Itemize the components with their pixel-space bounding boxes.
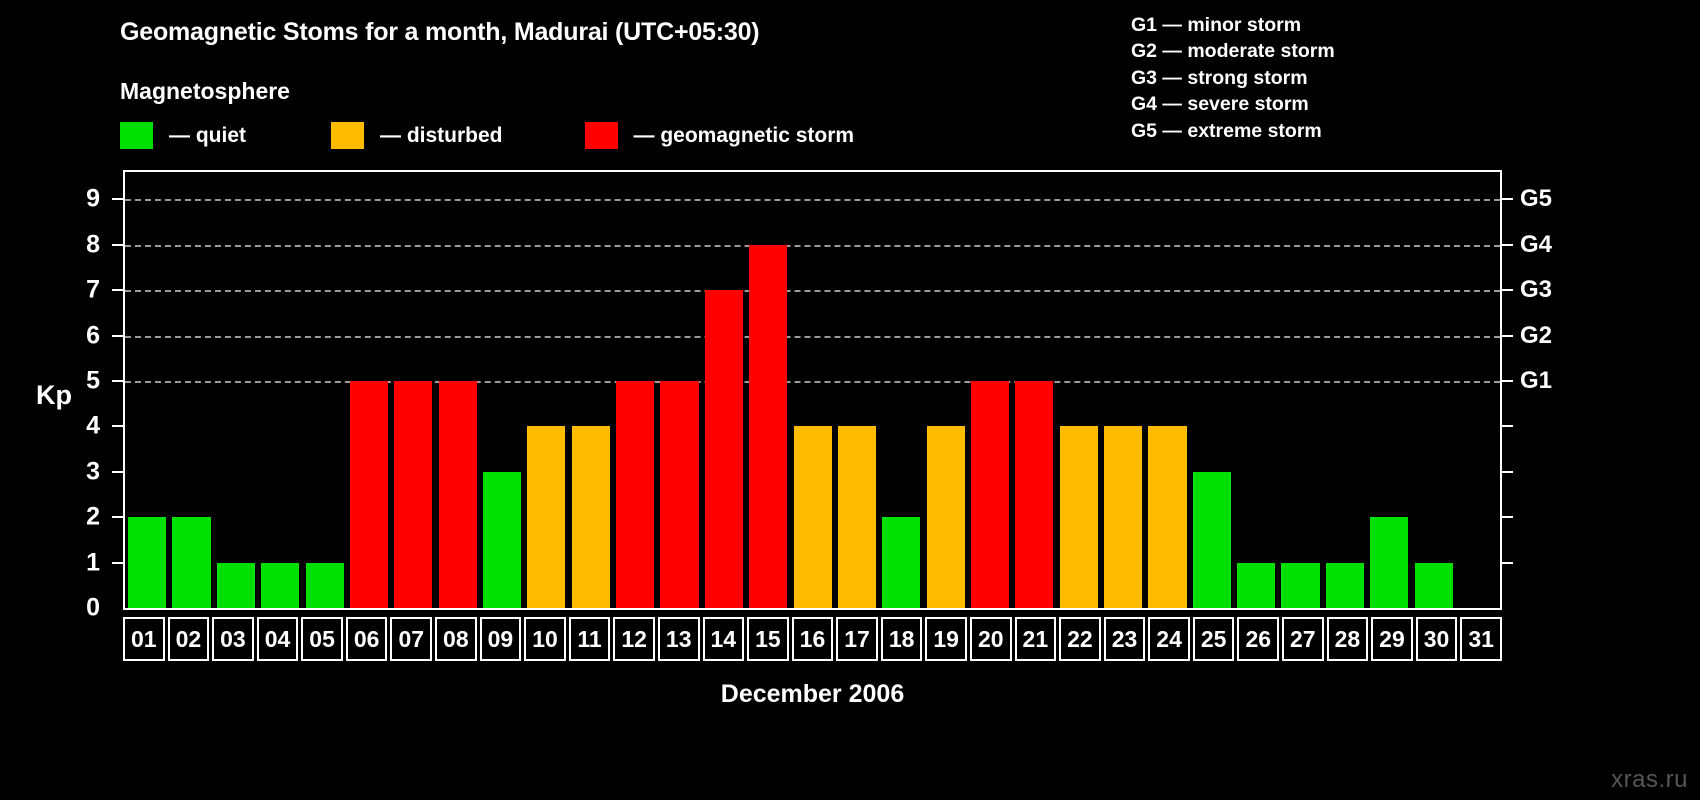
bar-slot-day-12[interactable] xyxy=(613,172,657,608)
g-minor-tick-kp-2 xyxy=(1502,516,1513,518)
bar-slot-day-28[interactable] xyxy=(1323,172,1367,608)
bar-day-06 xyxy=(350,381,388,608)
bar-slot-day-08[interactable] xyxy=(436,172,480,608)
legend-geomagnetic-storm-swatch xyxy=(585,122,618,149)
bar-day-15 xyxy=(749,245,787,608)
legend-quiet-label: — quiet xyxy=(169,124,246,148)
day-label-24[interactable]: 24 xyxy=(1148,617,1190,661)
bar-slot-day-15[interactable] xyxy=(746,172,790,608)
day-label-13[interactable]: 13 xyxy=(658,617,700,661)
x-axis-title: December 2006 xyxy=(0,680,1625,709)
bar-slot-day-24[interactable] xyxy=(1145,172,1189,608)
g-tick-mark-G4 xyxy=(1502,244,1513,246)
bar-day-02 xyxy=(172,517,210,608)
bar-day-30 xyxy=(1415,563,1453,608)
gscale-legend: G1 — minor stormG2 — moderate stormG3 — … xyxy=(1131,12,1335,144)
bar-slot-day-19[interactable] xyxy=(923,172,967,608)
bar-day-09 xyxy=(483,472,521,608)
legend-quiet-swatch xyxy=(120,122,153,149)
gscale-row-g1: G1 — minor storm xyxy=(1131,12,1335,38)
bar-slot-day-20[interactable] xyxy=(968,172,1012,608)
bar-day-18 xyxy=(882,517,920,608)
bar-slot-day-13[interactable] xyxy=(657,172,701,608)
bar-slot-day-27[interactable] xyxy=(1278,172,1322,608)
legend-geomagnetic-storm[interactable]: — geomagnetic storm xyxy=(585,122,855,149)
day-label-09[interactable]: 09 xyxy=(480,617,522,661)
bar-day-16 xyxy=(794,426,832,608)
day-label-15[interactable]: 15 xyxy=(747,617,789,661)
y-tick-label-6: 6 xyxy=(0,321,100,350)
page-title: Geomagnetic Stoms for a month, Madurai (… xyxy=(120,18,759,47)
bar-slot-day-14[interactable] xyxy=(702,172,746,608)
y-tick-mark-1 xyxy=(112,562,123,564)
y-tick-mark-3 xyxy=(112,471,123,473)
bar-day-27 xyxy=(1281,563,1319,608)
day-label-23[interactable]: 23 xyxy=(1104,617,1146,661)
g-tick-mark-G1 xyxy=(1502,380,1513,382)
day-label-18[interactable]: 18 xyxy=(881,617,923,661)
bar-slot-day-23[interactable] xyxy=(1101,172,1145,608)
g-tick-mark-G5 xyxy=(1502,198,1513,200)
bar-slot-day-31[interactable] xyxy=(1456,172,1500,608)
g-minor-tick-kp-1 xyxy=(1502,562,1513,564)
legend-disturbed-swatch xyxy=(331,122,364,149)
bar-day-25 xyxy=(1193,472,1231,608)
bar-slot-day-25[interactable] xyxy=(1190,172,1234,608)
day-label-16[interactable]: 16 xyxy=(792,617,834,661)
day-label-07[interactable]: 07 xyxy=(390,617,432,661)
gscale-row-g3: G3 — strong storm xyxy=(1131,65,1335,91)
y-tick-label-1: 1 xyxy=(0,548,100,577)
day-label-11[interactable]: 11 xyxy=(569,617,611,661)
bar-day-13 xyxy=(660,381,698,608)
bar-day-04 xyxy=(261,563,299,608)
bar-slot-day-29[interactable] xyxy=(1367,172,1411,608)
bar-slot-day-11[interactable] xyxy=(569,172,613,608)
bar-slot-day-03[interactable] xyxy=(214,172,258,608)
y-axis-title: Kp xyxy=(36,380,72,411)
y-tick-mark-2 xyxy=(112,516,123,518)
gscale-row-g5: G5 — extreme storm xyxy=(1131,118,1335,144)
legend-disturbed[interactable]: — disturbed xyxy=(331,122,503,149)
g-tick-label-G1: G1 xyxy=(1520,367,1552,395)
bar-slot-day-16[interactable] xyxy=(790,172,834,608)
gscale-row-g2: G2 — moderate storm xyxy=(1131,38,1335,64)
bar-slot-day-10[interactable] xyxy=(524,172,568,608)
y-tick-mark-8 xyxy=(112,244,123,246)
g-tick-label-G5: G5 xyxy=(1520,185,1552,213)
day-label-02[interactable]: 02 xyxy=(168,617,210,661)
day-label-29[interactable]: 29 xyxy=(1371,617,1413,661)
g-tick-label-G2: G2 xyxy=(1520,322,1552,350)
bar-slot-day-09[interactable] xyxy=(480,172,524,608)
g-minor-tick-kp-3 xyxy=(1502,471,1513,473)
day-label-05[interactable]: 05 xyxy=(301,617,343,661)
day-label-21[interactable]: 21 xyxy=(1015,617,1057,661)
y-tick-label-4: 4 xyxy=(0,412,100,441)
day-label-10[interactable]: 10 xyxy=(524,617,566,661)
g-tick-mark-G2 xyxy=(1502,335,1513,337)
bar-day-21 xyxy=(1015,381,1053,608)
day-label-26[interactable]: 26 xyxy=(1237,617,1279,661)
day-label-20[interactable]: 20 xyxy=(970,617,1012,661)
bar-slot-day-18[interactable] xyxy=(879,172,923,608)
bar-day-03 xyxy=(217,563,255,608)
bar-slot-day-26[interactable] xyxy=(1234,172,1278,608)
day-label-01[interactable]: 01 xyxy=(123,617,165,661)
bar-day-08 xyxy=(439,381,477,608)
bar-slot-day-05[interactable] xyxy=(302,172,346,608)
magnetosphere-heading: Magnetosphere xyxy=(120,78,290,105)
watermark: xras.ru xyxy=(1611,766,1688,794)
bar-day-12 xyxy=(616,381,654,608)
y-tick-label-3: 3 xyxy=(0,457,100,486)
plot-area xyxy=(123,170,1502,610)
y-tick-label-8: 8 xyxy=(0,230,100,259)
x-axis-day-labels: 0102030405060708091011121314151617181920… xyxy=(123,617,1502,661)
y-tick-label-0: 0 xyxy=(0,594,100,623)
y-tick-mark-6 xyxy=(112,335,123,337)
bar-slot-day-22[interactable] xyxy=(1057,172,1101,608)
day-label-12[interactable]: 12 xyxy=(613,617,655,661)
day-label-06[interactable]: 06 xyxy=(346,617,388,661)
day-label-04[interactable]: 04 xyxy=(257,617,299,661)
day-label-14[interactable]: 14 xyxy=(703,617,745,661)
day-label-17[interactable]: 17 xyxy=(836,617,878,661)
bar-day-26 xyxy=(1237,563,1275,608)
day-label-31[interactable]: 31 xyxy=(1460,617,1502,661)
y-tick-mark-9 xyxy=(112,198,123,200)
bar-slot-day-06[interactable] xyxy=(347,172,391,608)
y-tick-label-7: 7 xyxy=(0,276,100,305)
bar-slot-day-21[interactable] xyxy=(1012,172,1056,608)
bar-day-28 xyxy=(1326,563,1364,608)
bar-day-29 xyxy=(1370,517,1408,608)
bar-day-19 xyxy=(927,426,965,608)
legend-geomagnetic-storm-label: — geomagnetic storm xyxy=(634,124,855,148)
y-tick-label-2: 2 xyxy=(0,503,100,532)
day-label-25[interactable]: 25 xyxy=(1193,617,1235,661)
bar-day-20 xyxy=(971,381,1009,608)
bars-layer xyxy=(125,172,1500,608)
magnetosphere-legend: — quiet— disturbed— geomagnetic storm xyxy=(120,122,854,149)
day-label-30[interactable]: 30 xyxy=(1416,617,1458,661)
g-minor-tick-kp-4 xyxy=(1502,425,1513,427)
g-tick-label-G3: G3 xyxy=(1520,276,1552,304)
day-label-27[interactable]: 27 xyxy=(1282,617,1324,661)
bar-day-10 xyxy=(527,426,565,608)
bar-day-22 xyxy=(1060,426,1098,608)
legend-disturbed-label: — disturbed xyxy=(380,124,503,148)
bar-slot-day-07[interactable] xyxy=(391,172,435,608)
day-label-28[interactable]: 28 xyxy=(1327,617,1369,661)
bar-day-17 xyxy=(838,426,876,608)
y-tick-label-9: 9 xyxy=(0,185,100,214)
gscale-row-g4: G4 — severe storm xyxy=(1131,91,1335,117)
bar-day-01 xyxy=(128,517,166,608)
bar-day-24 xyxy=(1148,426,1186,608)
day-label-22[interactable]: 22 xyxy=(1059,617,1101,661)
y-tick-mark-7 xyxy=(112,289,123,291)
day-label-08[interactable]: 08 xyxy=(435,617,477,661)
bar-slot-day-04[interactable] xyxy=(258,172,302,608)
bar-day-07 xyxy=(394,381,432,608)
legend-quiet[interactable]: — quiet xyxy=(120,122,246,149)
bar-day-11 xyxy=(572,426,610,608)
y-tick-mark-5 xyxy=(112,380,123,382)
bar-slot-day-02[interactable] xyxy=(169,172,213,608)
day-label-03[interactable]: 03 xyxy=(212,617,254,661)
bar-day-05 xyxy=(306,563,344,608)
g-tick-label-G4: G4 xyxy=(1520,231,1552,259)
g-tick-mark-G3 xyxy=(1502,289,1513,291)
bar-slot-day-01[interactable] xyxy=(125,172,169,608)
bar-slot-day-30[interactable] xyxy=(1411,172,1455,608)
bar-slot-day-17[interactable] xyxy=(835,172,879,608)
day-label-19[interactable]: 19 xyxy=(925,617,967,661)
bar-day-14 xyxy=(705,290,743,608)
bar-day-23 xyxy=(1104,426,1142,608)
y-tick-mark-4 xyxy=(112,425,123,427)
